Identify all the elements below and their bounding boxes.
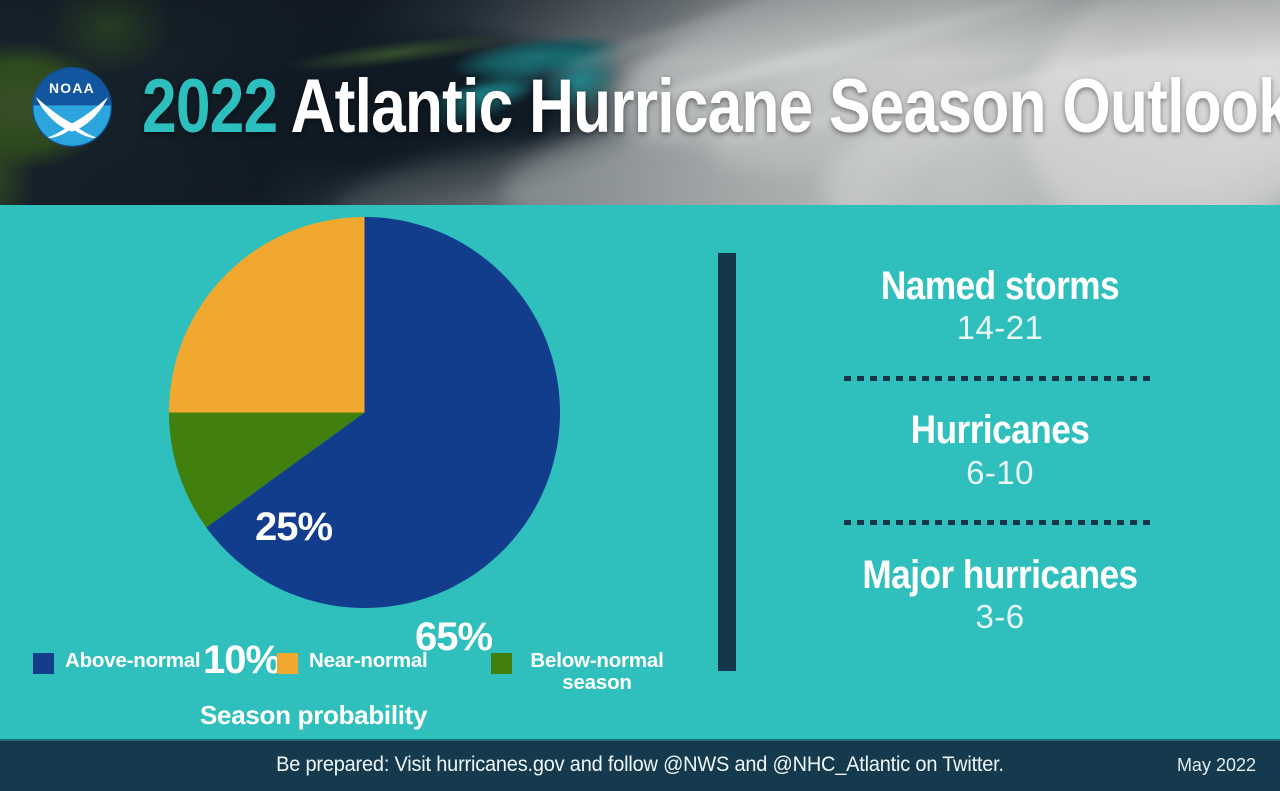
stat-hurricanes: Hurricanes 6-10 bbox=[790, 409, 1210, 491]
pie-slice-near-normal bbox=[169, 217, 365, 413]
legend-item-above-normal: Above-normal bbox=[33, 650, 200, 674]
stat-label-named-storms: Named storms bbox=[815, 265, 1185, 307]
legend-label-above-normal: Above-normal bbox=[65, 650, 200, 672]
dotted-divider bbox=[790, 347, 1210, 409]
footer-date: May 2022 bbox=[1177, 739, 1256, 791]
stat-value-named-storms: 14-21 bbox=[790, 310, 1210, 347]
header-banner: NOAA 2022Atlantic Hurricane Season Outlo… bbox=[0, 0, 1280, 205]
legend-label-below-normal: Below-normal season bbox=[521, 650, 673, 693]
page-title: 2022Atlantic Hurricane Season Outlook bbox=[142, 56, 1280, 158]
hurricane-outlook-infographic: NOAA 2022Atlantic Hurricane Season Outlo… bbox=[0, 0, 1280, 791]
noaa-logo-icon: NOAA bbox=[31, 66, 113, 148]
stat-value-major-hurricanes: 3-6 bbox=[790, 599, 1210, 636]
legend-item-near-normal: Near-normal bbox=[277, 650, 428, 674]
footer-bar: Be prepared: Visit hurricanes.gov and fo… bbox=[0, 739, 1280, 791]
chart-caption: Season probability bbox=[200, 700, 427, 731]
dotted-line bbox=[844, 520, 1156, 525]
pie-value-near-normal: 25% bbox=[255, 507, 332, 547]
footer-message: Be prepared: Visit hurricanes.gov and fo… bbox=[32, 739, 1248, 791]
main-content: 65% 25% 10% Above-normal Near-normal Bel… bbox=[0, 205, 1280, 739]
title-year: 2022 bbox=[142, 69, 277, 145]
forecast-numbers-panel: Named storms 14-21 Hurricanes 6-10 Major… bbox=[790, 265, 1210, 636]
stat-value-hurricanes: 6-10 bbox=[790, 455, 1210, 492]
season-probability-pie-chart bbox=[167, 215, 562, 610]
legend-item-below-normal: Below-normal season bbox=[491, 650, 673, 693]
stat-named-storms: Named storms 14-21 bbox=[790, 265, 1210, 347]
legend-swatch-below-normal bbox=[491, 653, 512, 674]
legend-label-near-normal: Near-normal bbox=[309, 650, 428, 672]
title-text: Atlantic Hurricane Season Outlook bbox=[290, 69, 1280, 145]
dotted-line bbox=[844, 376, 1156, 381]
stat-label-major-hurricanes: Major hurricanes bbox=[815, 554, 1185, 596]
stat-major-hurricanes: Major hurricanes 3-6 bbox=[790, 554, 1210, 636]
vertical-divider bbox=[718, 253, 736, 671]
legend-swatch-above-normal bbox=[33, 653, 54, 674]
dotted-divider bbox=[790, 492, 1210, 554]
legend-swatch-near-normal bbox=[277, 653, 298, 674]
svg-text:NOAA: NOAA bbox=[49, 80, 95, 96]
stat-label-hurricanes: Hurricanes bbox=[815, 409, 1185, 451]
